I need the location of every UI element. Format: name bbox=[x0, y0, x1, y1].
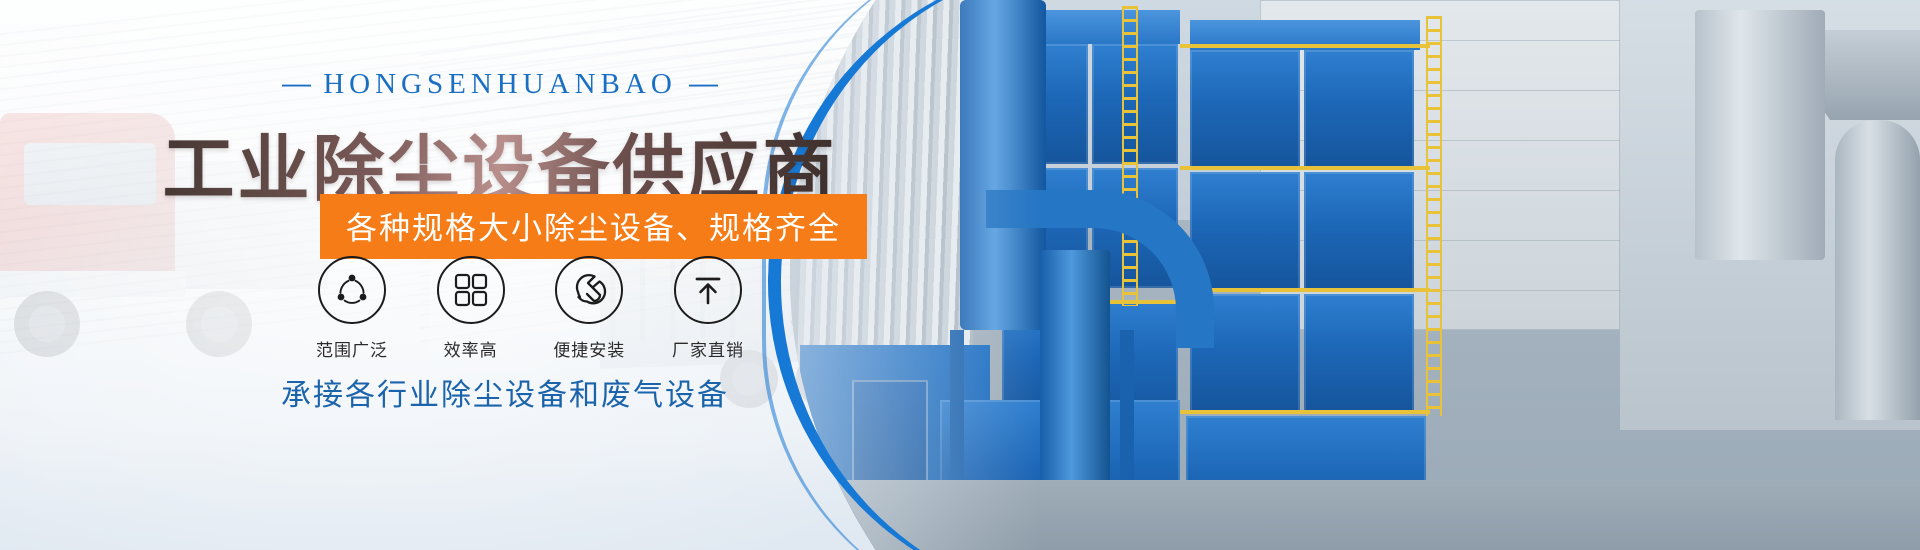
banner-text-content: — HONGSENHUANBAO — 工业除尘设备供应商 各种规格大小除尘设备、… bbox=[0, 0, 1120, 550]
baghouse-module bbox=[1190, 50, 1300, 168]
feature-label: 范围广泛 bbox=[300, 336, 404, 361]
wrench-icon bbox=[569, 270, 609, 310]
eyebrow-dash-right: — bbox=[689, 68, 718, 100]
feature-label: 效率高 bbox=[419, 336, 523, 361]
feature-label: 厂家直销 bbox=[656, 336, 760, 361]
grid-squares-icon bbox=[453, 272, 489, 308]
feature-icon-circle bbox=[437, 256, 505, 324]
baghouse-module bbox=[1304, 172, 1414, 290]
silo-tank bbox=[1695, 10, 1825, 260]
eyebrow-dash-left: — bbox=[282, 68, 311, 100]
subtitle-band: 各种规格大小除尘设备、规格齐全 bbox=[320, 194, 867, 259]
arrow-up-bar-icon bbox=[689, 271, 727, 309]
support-column bbox=[1120, 330, 1134, 490]
handrail bbox=[1180, 166, 1430, 170]
handrail bbox=[1180, 288, 1430, 292]
feature-icon-circle bbox=[318, 256, 386, 324]
eyebrow-text: HONGSENHUANBAO bbox=[323, 68, 677, 100]
feature-item-installation[interactable]: 便捷安装 bbox=[537, 256, 641, 361]
feature-item-factory-direct[interactable]: 厂家直销 bbox=[656, 256, 760, 361]
handrail bbox=[1180, 44, 1430, 48]
brand-eyebrow: — HONGSENHUANBAO — bbox=[0, 68, 1000, 101]
feature-list: 范围广泛 效率高 bbox=[300, 256, 760, 361]
baghouse-module bbox=[1304, 50, 1414, 168]
network-nodes-icon bbox=[332, 270, 372, 310]
ladder bbox=[1426, 16, 1442, 416]
feature-icon-circle bbox=[674, 256, 742, 324]
handrail bbox=[1180, 410, 1430, 414]
footer-tagline: 承接各行业除尘设备和废气设备 bbox=[0, 370, 1010, 414]
feature-icon-circle bbox=[555, 256, 623, 324]
feature-item-efficiency[interactable]: 效率高 bbox=[419, 256, 523, 361]
silo-tank-2 bbox=[1835, 120, 1920, 420]
feature-label: 便捷安装 bbox=[537, 336, 641, 361]
feature-item-range[interactable]: 范围广泛 bbox=[300, 256, 404, 361]
hero-banner: 保 13132 7001 bbox=[0, 0, 1920, 550]
baghouse-module bbox=[1304, 294, 1414, 412]
